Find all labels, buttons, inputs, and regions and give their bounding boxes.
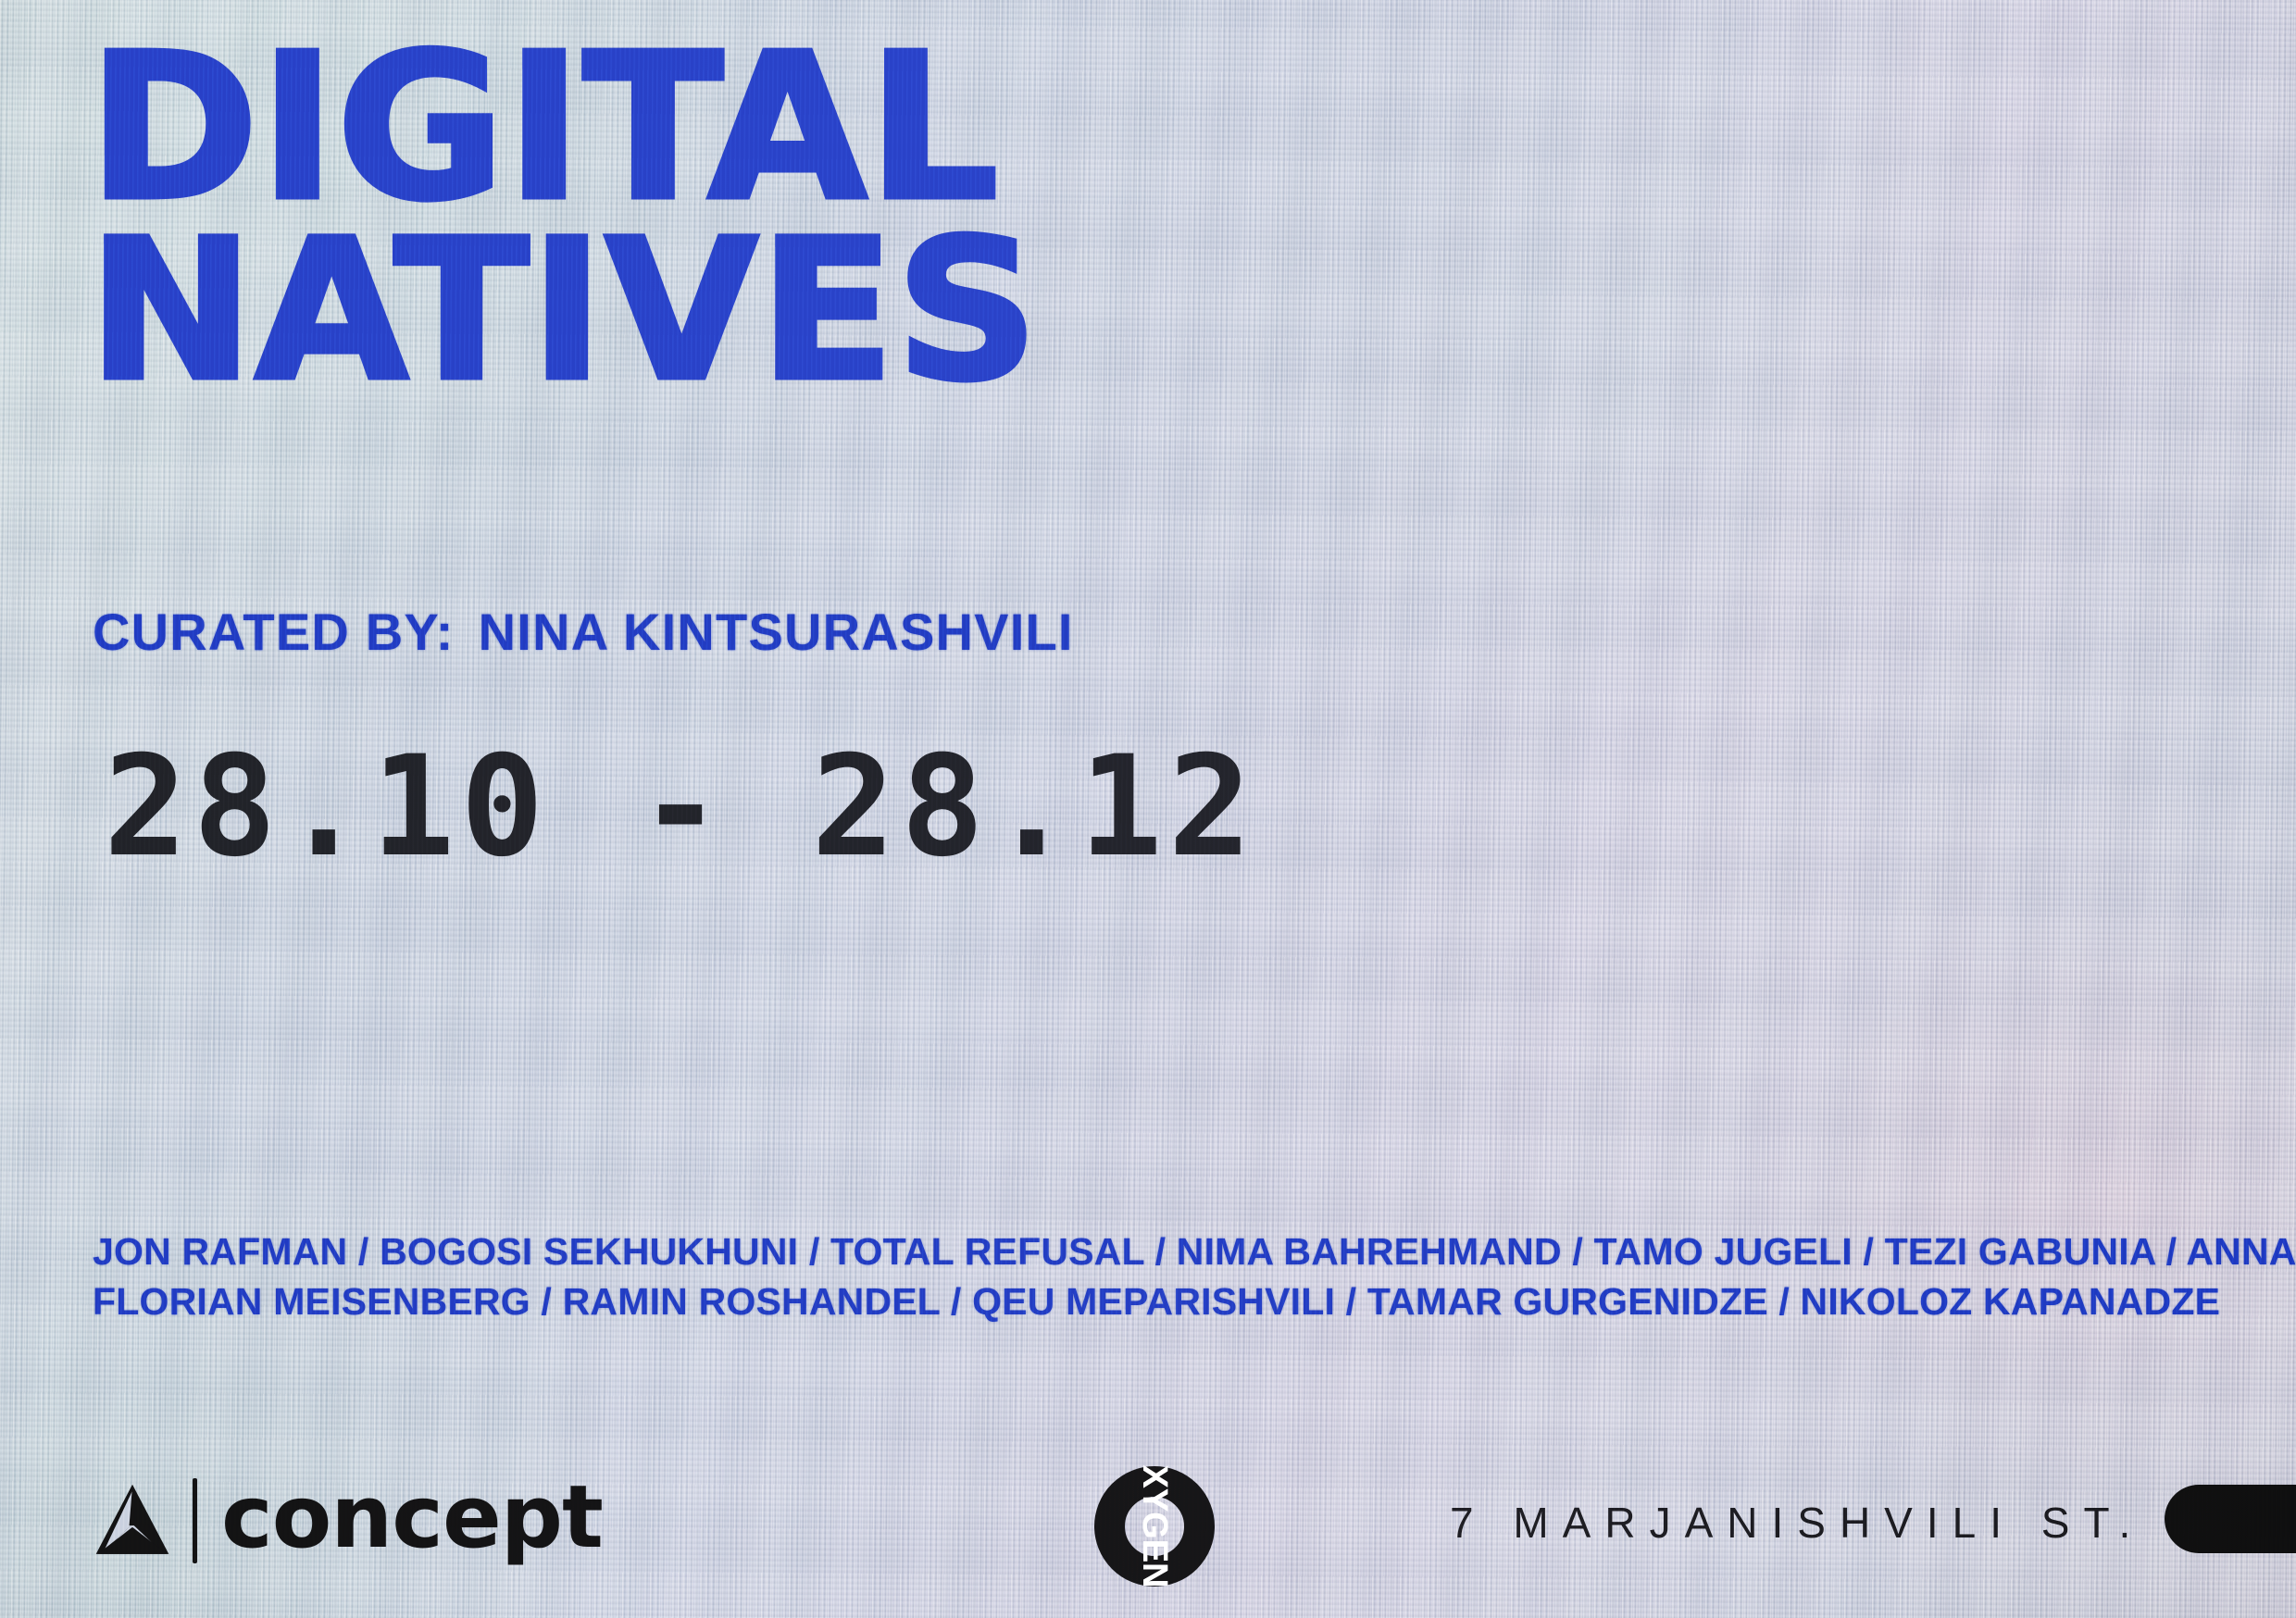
artist-list-line-1: JON RAFMAN / BOGOSI SEKHUKHUNI / TOTAL R…: [93, 1226, 2250, 1276]
oxygen-wordmark: XYGEN: [1137, 1464, 1172, 1587]
exhibition-dates: 28.10 - 28.12: [104, 727, 1257, 888]
date-end: 28.12: [811, 727, 1257, 888]
curator-credit: CURATED BY:NINA KINTSURASHVILI: [93, 602, 1074, 662]
concept-triangle-icon: [93, 1483, 172, 1559]
poster-footer: concept XYGEN 7 MARJANISHVILI ST.: [0, 1462, 2296, 1618]
venue-address: 7 MARJANISHVILI ST.: [1450, 1498, 2144, 1548]
oxygen-logo: XYGEN: [1094, 1466, 1215, 1587]
curator-label: CURATED BY:: [93, 603, 455, 661]
title-line-natives: NATIVES: [88, 233, 1504, 389]
logo-divider: [193, 1478, 197, 1563]
artist-list-line-2: FLORIAN MEISENBERG / RAMIN ROSHANDEL / Q…: [93, 1276, 2250, 1326]
poster-canvas: DIGITAL NATIVES CURATED BY:NINA KINTSURA…: [0, 0, 2296, 1618]
concept-logo: concept: [93, 1470, 603, 1572]
poster-content: DIGITAL NATIVES CURATED BY:NINA KINTSURA…: [0, 0, 2296, 1618]
artist-list: JON RAFMAN / BOGOSI SEKHUKHUNI / TOTAL R…: [93, 1226, 2250, 1326]
date-separator: -: [639, 727, 722, 888]
curator-name: NINA KINTSURASHVILI: [479, 603, 1074, 661]
exhibition-title: DIGITAL NATIVES: [88, 48, 1477, 389]
concept-wordmark: concept: [221, 1475, 603, 1562]
title-line-digital: DIGITAL: [88, 48, 1504, 209]
edge-pill-graphic: [2165, 1485, 2296, 1553]
date-start: 28.10: [104, 727, 550, 888]
